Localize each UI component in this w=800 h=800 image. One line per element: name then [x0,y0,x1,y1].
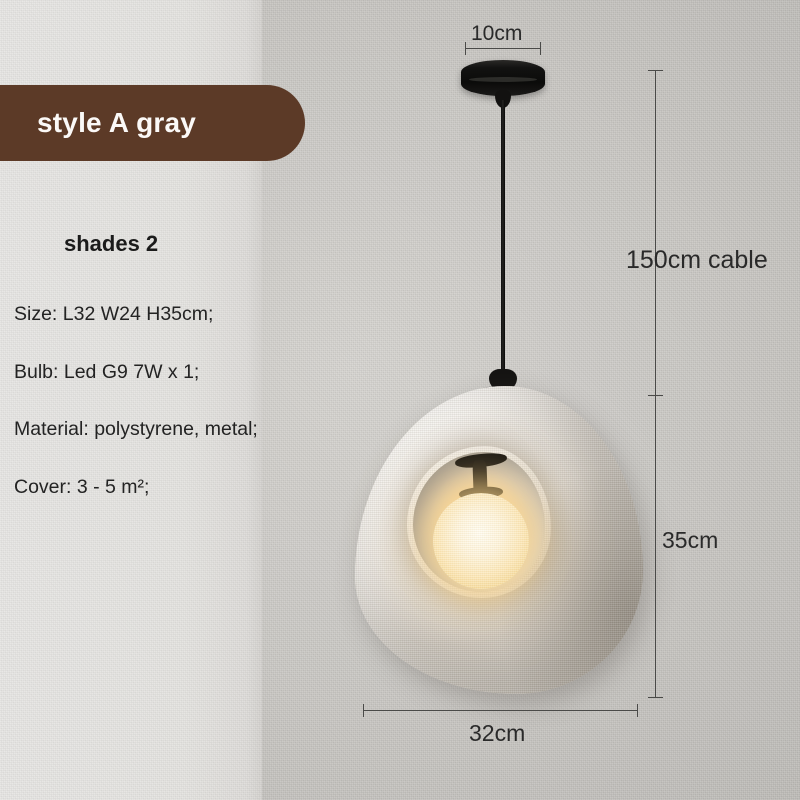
dimension-tick-canopy-right [540,42,541,55]
product-image: style A gray shades 2 Size: L32 W24 H35c… [0,0,800,800]
style-badge-label: style A gray [37,107,196,139]
spec-cover: Cover: 3 - 5 m²; [14,478,344,498]
dimension-line-canopy-width [465,48,541,49]
dimension-tick-shade-bottom [648,697,663,698]
dimension-label-canopy-width: 10cm [471,22,522,46]
dimension-label-shade-width: 32cm [469,720,525,747]
spec-size: Size: L32 W24 H35cm; [14,305,344,325]
spec-material: Material: polystyrene, metal; [14,420,344,440]
dimension-tick-width-left [363,704,364,717]
dimension-tick-canopy-left [465,42,466,55]
dimension-tick-width-right [637,704,638,717]
lamp-shade [355,386,643,694]
light-bulb [433,493,529,589]
style-badge: style A gray [0,85,305,161]
dimension-tick-cable-top [648,70,663,71]
dimension-line-shade-width [363,710,637,711]
dimension-label-shade-height: 35cm [662,527,718,554]
spec-bulb: Bulb: Led G9 7W x 1; [14,363,344,383]
shades-title: shades 2 [64,231,158,257]
dimension-line-shade-height [655,395,656,697]
spec-list: Size: L32 W24 H35cm; Bulb: Led G9 7W x 1… [14,305,344,535]
dimension-label-cable-length: 150cm cable [626,246,768,275]
dimension-line-cable [655,70,656,395]
bulb-texture [433,493,529,589]
suspension-cable [501,100,505,376]
canopy-seam [469,77,537,82]
